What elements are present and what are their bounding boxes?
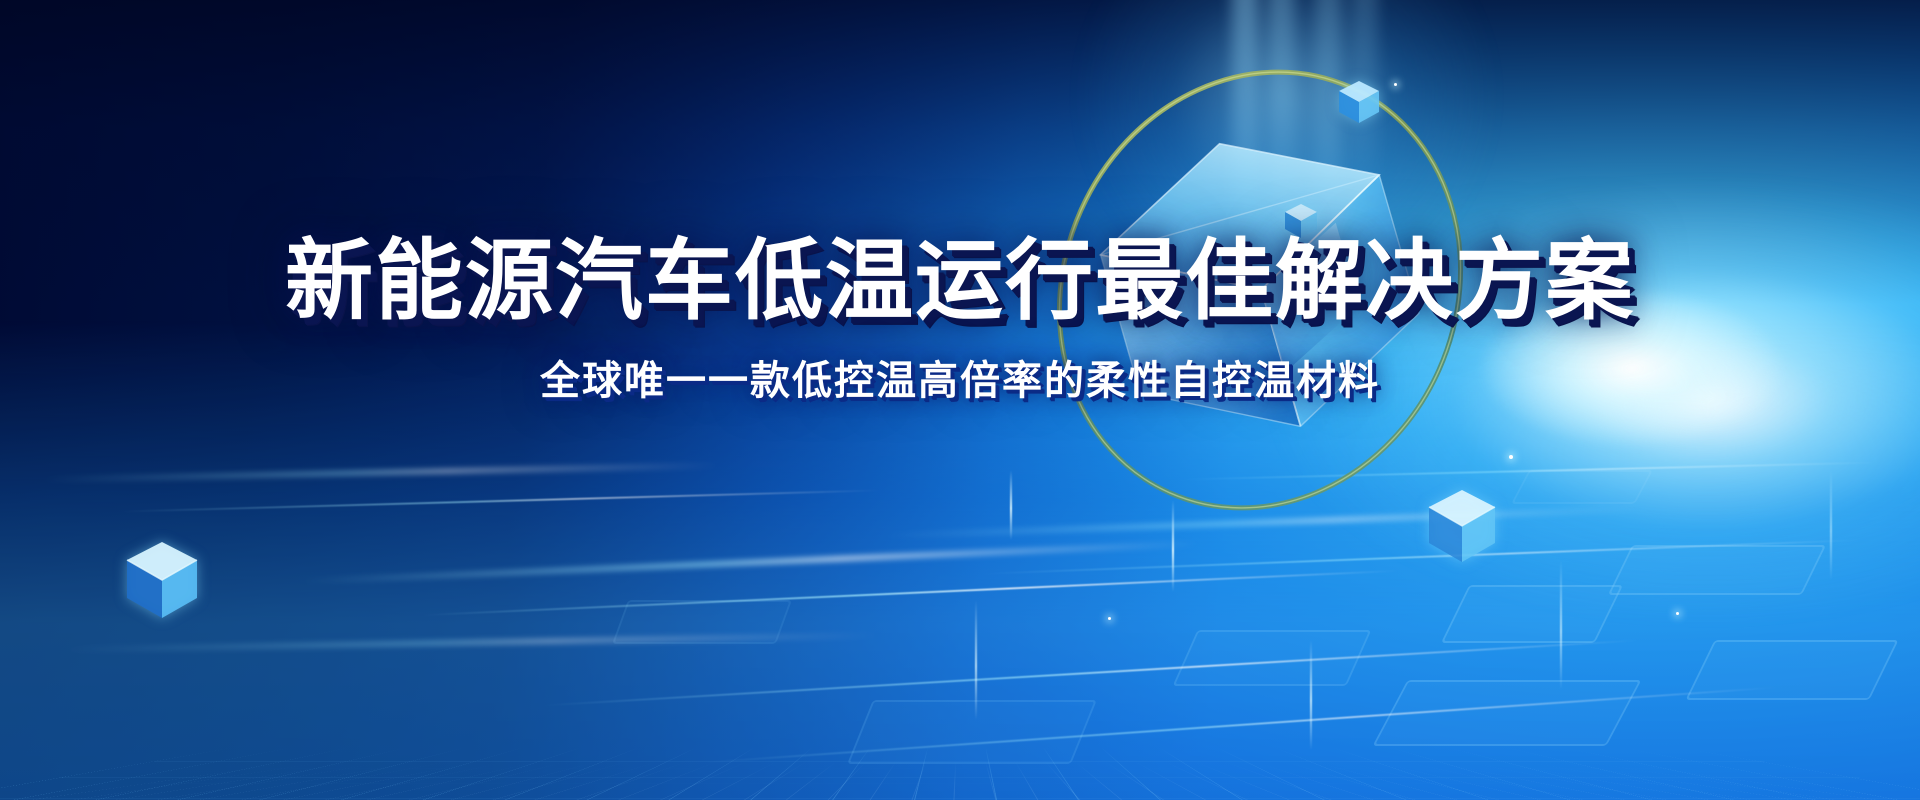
hero-banner: 新能源汽车低温运行最佳解决方案 全球唯一一款低控温高倍率的柔性自控温材料 [0,0,1920,800]
banner-title: 新能源汽车低温运行最佳解决方案 [285,236,1635,326]
banner-text-block: 新能源汽车低温运行最佳解决方案 全球唯一一款低控温高倍率的柔性自控温材料 [0,0,1920,800]
banner-subtitle: 全球唯一一款低控温高倍率的柔性自控温材料 [540,348,1380,406]
